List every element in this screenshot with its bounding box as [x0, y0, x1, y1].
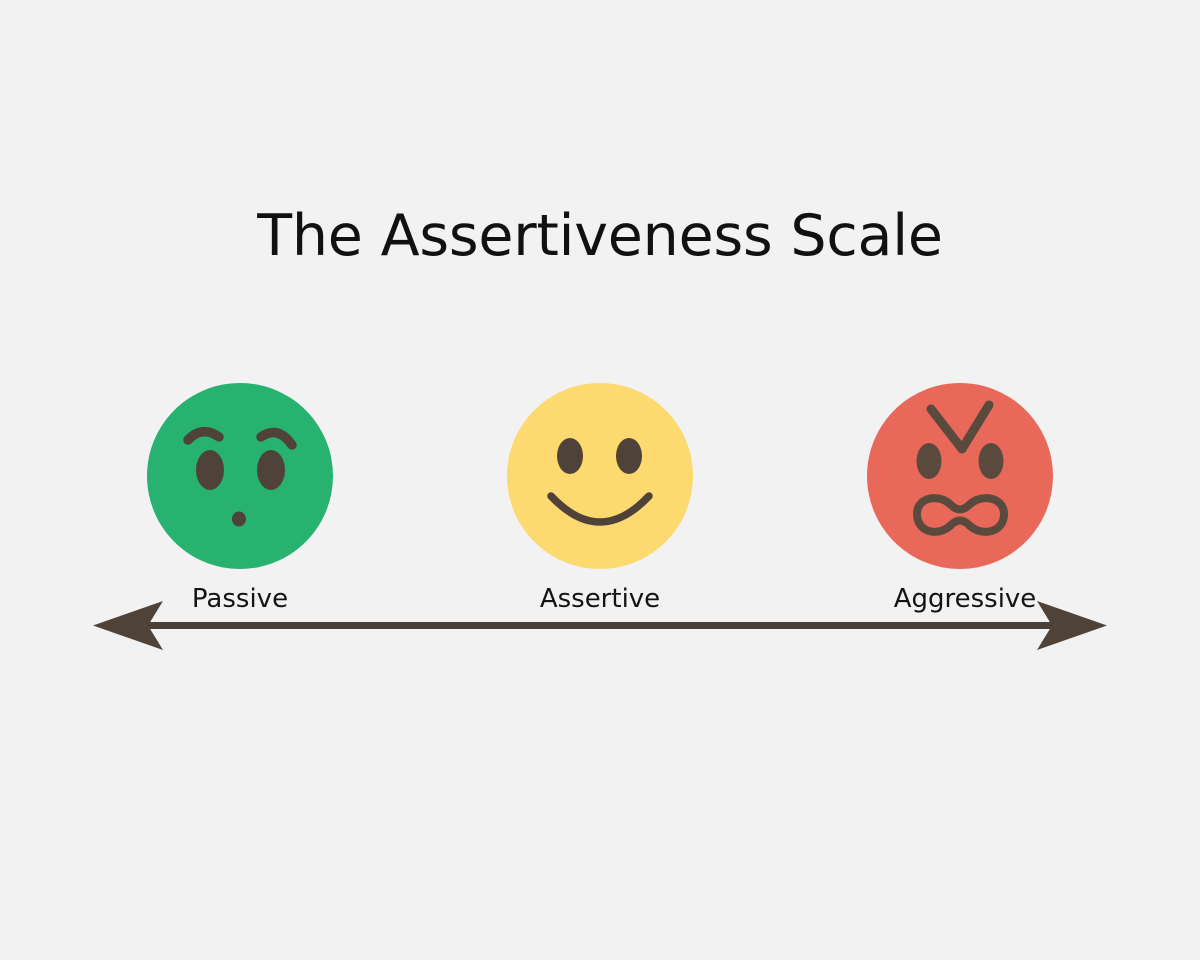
right-eye-icon — [616, 438, 642, 474]
axis-shaft — [140, 622, 1060, 629]
mouth-icon — [232, 512, 246, 527]
left-eye-icon — [196, 450, 224, 490]
assertive-face-icon — [507, 383, 693, 569]
passive-face-icon — [147, 383, 333, 569]
left-eye-icon — [917, 443, 942, 479]
right-eye-icon — [979, 443, 1004, 479]
aggressive-face-icon — [867, 383, 1053, 569]
face-circle-passive — [147, 383, 333, 569]
bidirectional-axis-arrow — [85, 595, 1115, 657]
face-circle-aggressive — [867, 383, 1053, 569]
face-circle-assertive — [507, 383, 693, 569]
page-title: The Assertiveness Scale — [0, 205, 1200, 268]
assertiveness-scale-diagram: The Assertiveness Scale Passive Assertiv… — [0, 0, 1200, 960]
right-eye-icon — [257, 450, 285, 490]
left-eye-icon — [557, 438, 583, 474]
